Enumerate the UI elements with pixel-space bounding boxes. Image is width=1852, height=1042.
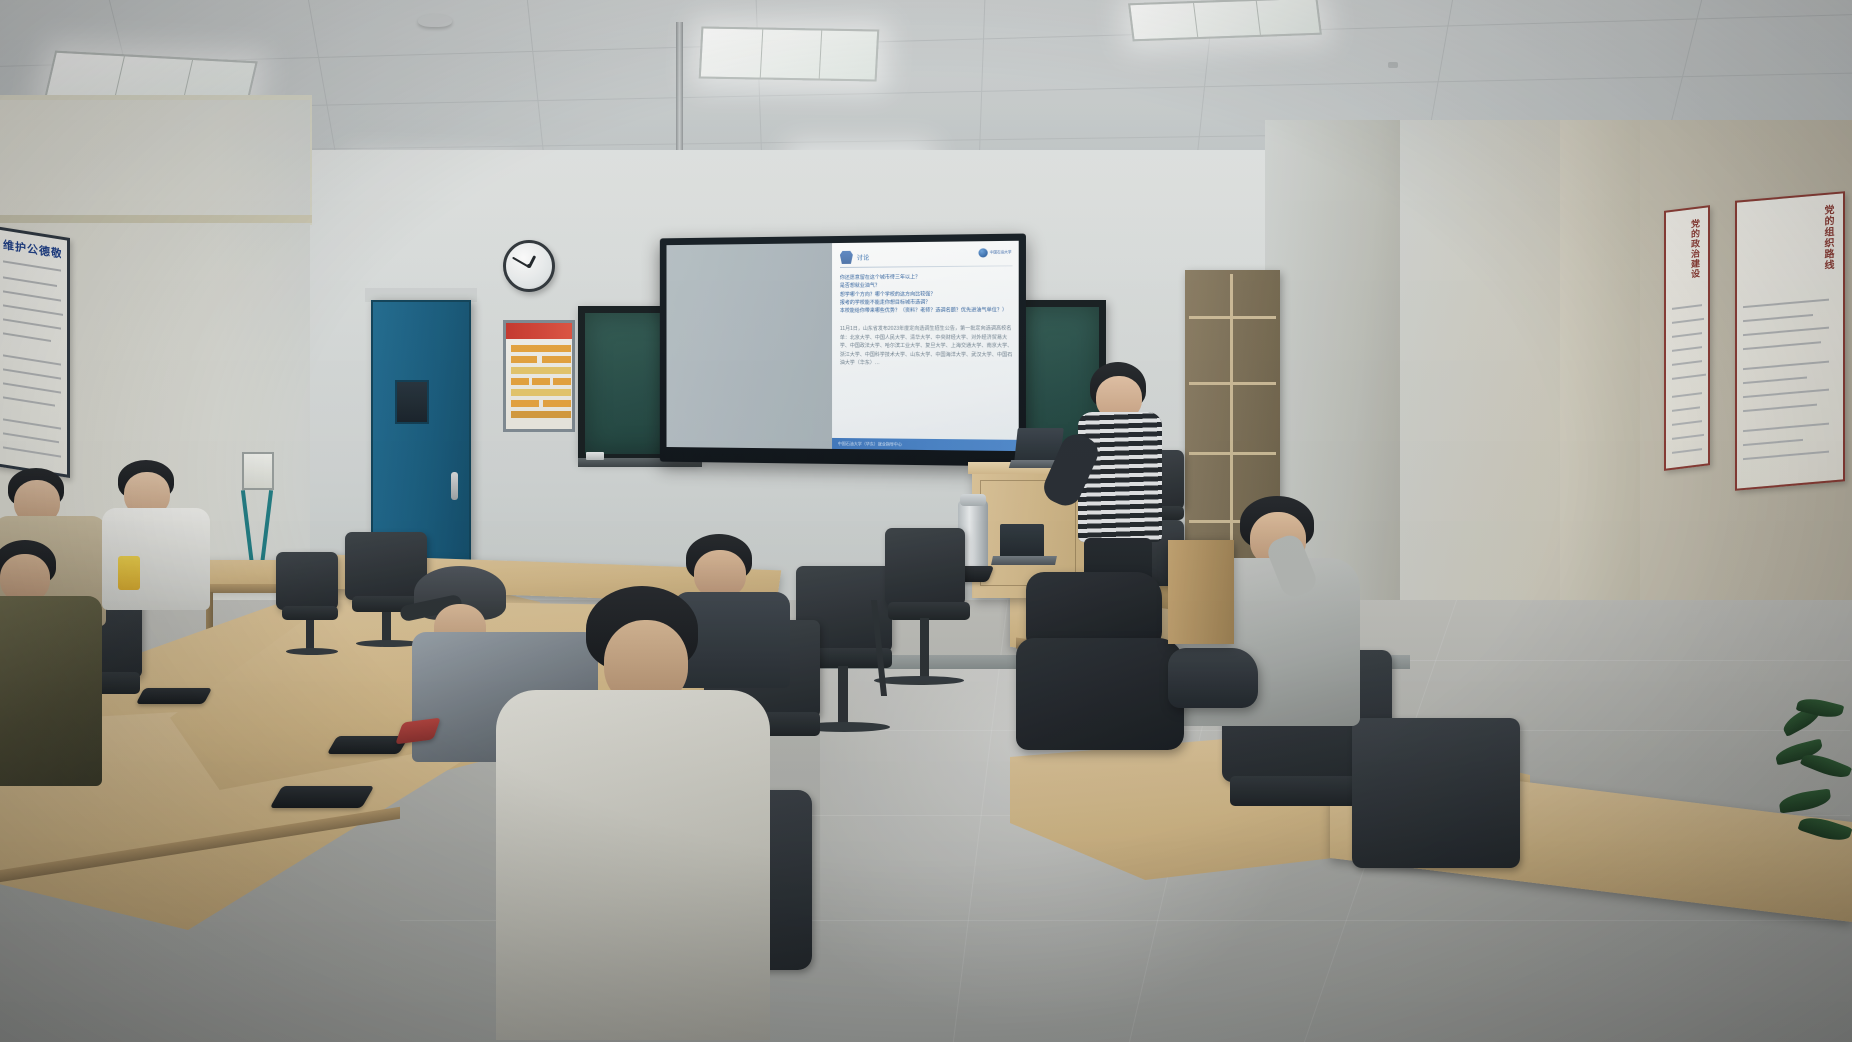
slide-heading-icon bbox=[840, 251, 853, 264]
university-logo-icon bbox=[978, 248, 987, 257]
wall-poster-right-2-title: 党的组织路线 bbox=[1820, 204, 1835, 289]
ceiling-vent-icon-2 bbox=[1388, 62, 1398, 68]
flipchart-board bbox=[242, 452, 274, 490]
phone-on-table[interactable] bbox=[136, 688, 213, 704]
board-eraser-icon[interactable] bbox=[586, 452, 604, 460]
laptop-screen-table[interactable] bbox=[1000, 524, 1044, 558]
chair-back[interactable] bbox=[276, 552, 338, 610]
plant-leaf bbox=[1797, 812, 1852, 845]
cardboard-box bbox=[1168, 540, 1234, 644]
wall-poster-right-2: 党的组织路线 bbox=[1735, 191, 1845, 491]
chair-back[interactable] bbox=[885, 528, 965, 606]
thermos-cap-icon bbox=[960, 494, 986, 506]
wall-poster-right-1-title: 党的政治建设 bbox=[1689, 218, 1702, 294]
potted-plant bbox=[1775, 700, 1852, 900]
slide-bullet-list: 你还愿意留在这个城市待三年以上？ 是否想就业油气？ 想学哪个方向？哪个学校的这方… bbox=[840, 272, 1013, 315]
slide-logo: 中国石油大学 bbox=[978, 248, 1011, 258]
plant-leaf bbox=[1800, 749, 1852, 783]
presentation-slide: 中国石油大学 讨论 你还愿意留在这个城市待三年以上？ 是否想就业油气？ 想学哪个… bbox=[832, 241, 1019, 451]
slide-bullet: 本校能给你带来哪些优势？（资料？老师？选调名额？优先进油气单位？） bbox=[840, 306, 1013, 315]
door-handle-icon[interactable] bbox=[451, 472, 458, 500]
projector-mount-pole bbox=[676, 22, 683, 167]
presenter-striped-sweater bbox=[1078, 412, 1162, 542]
chair-base bbox=[286, 648, 338, 655]
flipchart-stand bbox=[238, 452, 278, 574]
slide-footer-text: 中国石油大学（华东）就业指导中心 bbox=[832, 438, 1019, 451]
chair-post bbox=[920, 618, 929, 682]
smoke-detector-icon bbox=[418, 14, 452, 27]
slide-paragraph: 11月1日，山东省发布2023年度定向选调生招生公告，第一批定向选调高校名单：北… bbox=[840, 325, 1013, 368]
slide-heading: 讨论 bbox=[857, 253, 870, 262]
slide-divider bbox=[840, 265, 1013, 268]
notice-board-header bbox=[506, 323, 572, 339]
attendee-3-torso bbox=[0, 596, 102, 786]
backpack-on-table[interactable] bbox=[1016, 638, 1184, 750]
chair-base bbox=[874, 676, 964, 685]
clock-center-icon bbox=[527, 264, 531, 268]
left-wall-trim bbox=[0, 215, 312, 223]
chair-seat[interactable] bbox=[282, 606, 338, 620]
person-attendee-3 bbox=[0, 540, 120, 790]
attendee-5-torso bbox=[496, 690, 770, 1040]
slide-footer: 中国石油大学（华东）就业指导中心 bbox=[832, 438, 1019, 451]
phone-on-table[interactable] bbox=[270, 786, 375, 808]
screen-unlit-area bbox=[667, 243, 832, 449]
ceiling-lamp-3 bbox=[699, 26, 880, 81]
ceiling-lamp-5 bbox=[1128, 0, 1322, 41]
door-window-icon bbox=[395, 380, 429, 424]
wall-poster-left-1-title: 维护公德敬人职责 bbox=[3, 236, 61, 261]
wall-poster-left-1: 维护公德敬人职责 bbox=[0, 226, 70, 478]
person-attendee-5 bbox=[486, 586, 776, 1042]
cup-on-table[interactable] bbox=[118, 556, 140, 590]
slide-logo-text: 中国石油大学 bbox=[990, 250, 1012, 255]
plant-leaf bbox=[1778, 788, 1832, 813]
classroom-scene: 维护公德敬人职责 公示栏 党的政治建设 党的组织路线 bbox=[0, 0, 1852, 1042]
laptop-keyboard-table[interactable] bbox=[991, 556, 1057, 565]
wall-poster-right-1: 党的政治建设 bbox=[1664, 205, 1710, 471]
wall-clock: 10:10 bbox=[503, 240, 555, 292]
screen-surface: 中国石油大学 讨论 你还愿意留在这个城市待三年以上？ 是否想就业油气？ 想学哪个… bbox=[667, 241, 1019, 451]
projection-screen: 中国石油大学 讨论 你还愿意留在这个城市待三年以上？ 是否想就业油气？ 想学哪个… bbox=[660, 234, 1026, 467]
bag-on-chair[interactable] bbox=[1168, 648, 1258, 708]
chair-post bbox=[838, 666, 848, 728]
presenter-torso bbox=[1078, 412, 1162, 542]
attendee-3-head bbox=[0, 554, 50, 602]
chair-seat[interactable] bbox=[888, 602, 970, 620]
backpack-floor[interactable] bbox=[1026, 572, 1162, 648]
notice-board: 公示栏 bbox=[503, 320, 575, 432]
chair-back[interactable] bbox=[1352, 718, 1520, 868]
